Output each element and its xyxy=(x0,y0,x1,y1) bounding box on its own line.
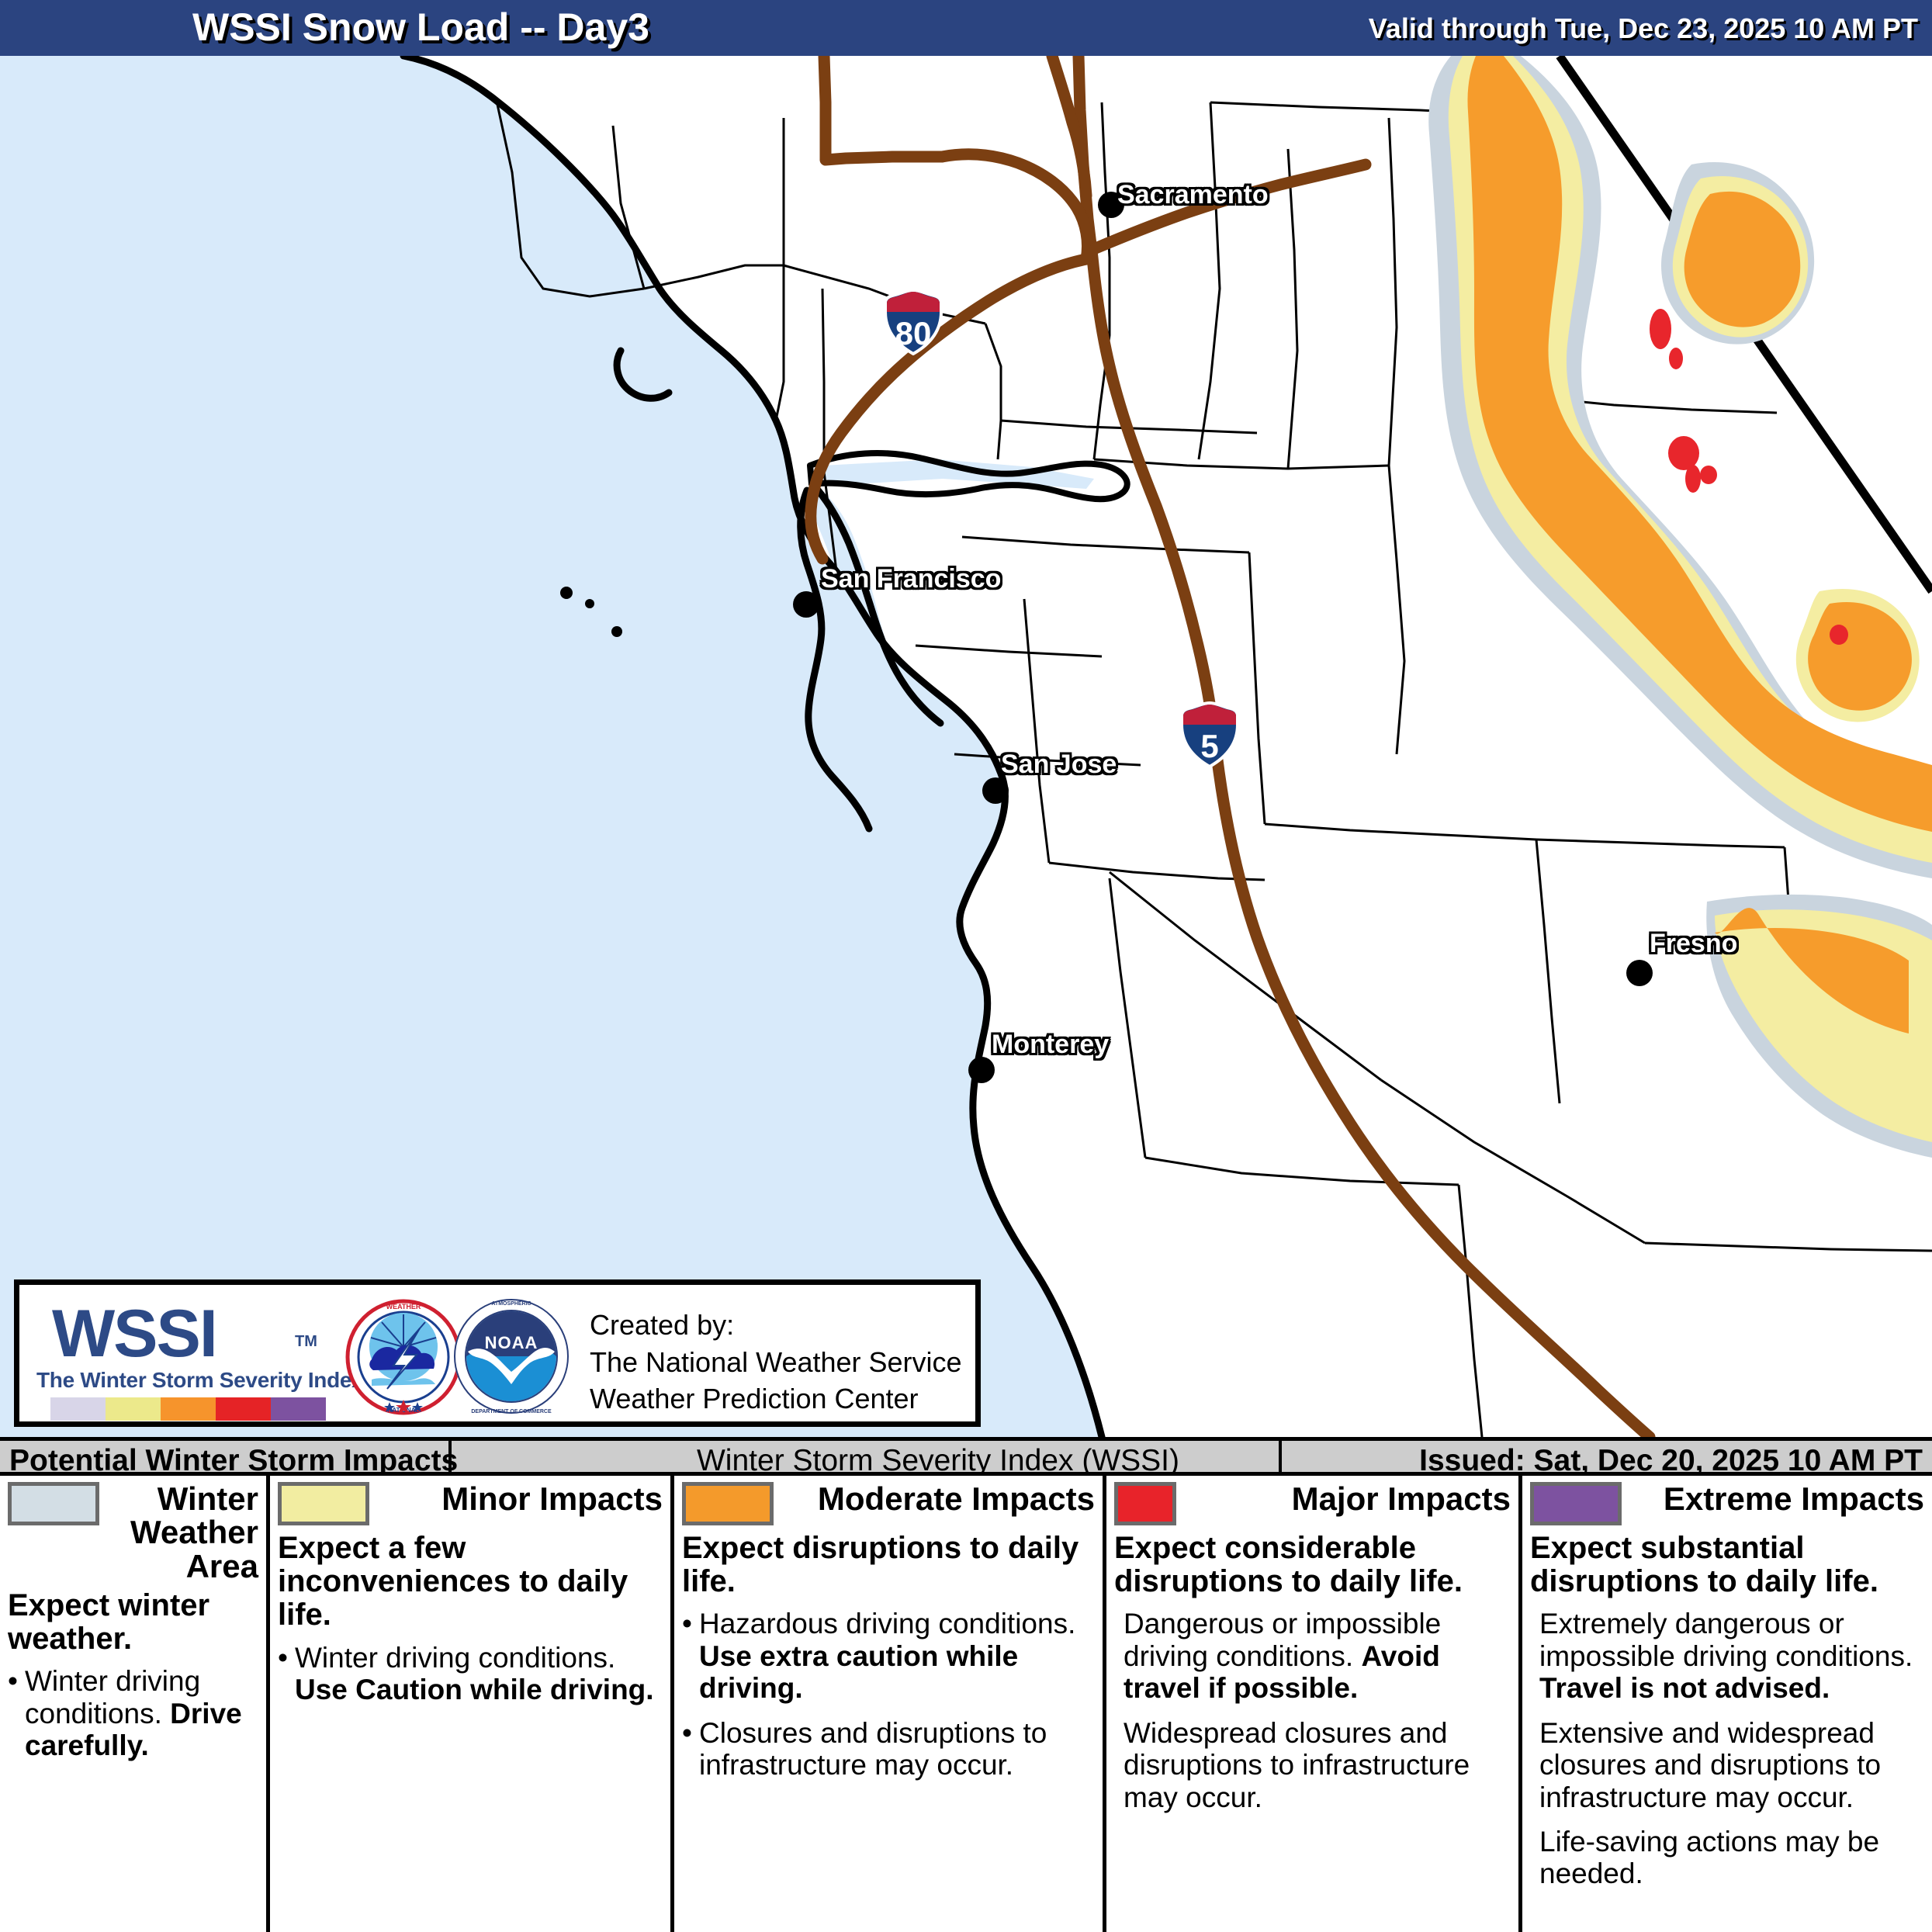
legend-bullet-text: Winter driving conditions. Drive careful… xyxy=(25,1665,258,1761)
page-header: WSSI Snow Load -- Day3 Valid through Tue… xyxy=(0,0,1932,56)
legend-title-extreme-impacts: Extreme Impacts xyxy=(1629,1482,1924,1515)
noaa-seal: NOAA ATMOSPHERIC DEPARTMENT OF COMMERCE xyxy=(452,1297,570,1415)
city-label-san-jose: San Jose xyxy=(1001,750,1117,780)
valid-through-text: Valid through Tue, Dec 23, 2025 10 AM PT xyxy=(1369,12,1918,45)
legend-column-minor-impacts[interactable]: Minor Impacts Expect a few inconvenience… xyxy=(270,1476,674,1932)
legend-bullet-text: Extensive and widespread closures and di… xyxy=(1539,1717,1924,1813)
svg-text:WEATHER: WEATHER xyxy=(386,1303,421,1311)
wssi-wordmark: WSSI xyxy=(52,1296,216,1373)
map-canvas[interactable]: Sacramento San Francisco San Jose Monter… xyxy=(0,56,1932,1437)
legend-bullet-item: • Closures and disruptions to infrastruc… xyxy=(682,1717,1095,1781)
legend-bullet-text: Winter driving conditions. Use Caution w… xyxy=(295,1642,663,1706)
status-bar: Potential Winter Storm Impacts Winter St… xyxy=(0,1437,1932,1476)
created-by-org: The National Weather Service xyxy=(590,1344,962,1381)
city-dot-fresno xyxy=(1626,960,1653,986)
wssi-trademark: TM xyxy=(295,1333,317,1351)
city-label-san-francisco: San Francisco xyxy=(821,564,1001,594)
bullet-bold: Use extra caution while driving. xyxy=(699,1640,1018,1704)
svg-text:NOAA: NOAA xyxy=(485,1333,538,1352)
legend-bullet-text: Closures and disruptions to infrastructu… xyxy=(699,1717,1095,1781)
farallon-island xyxy=(560,587,573,599)
city-label-sacramento: Sacramento xyxy=(1117,180,1269,210)
legend-swatch-minor-impacts xyxy=(278,1482,369,1525)
status-bar-left-title: Potential Winter Storm Impacts xyxy=(9,1444,458,1478)
legend-title-minor-impacts: Minor Impacts xyxy=(377,1482,663,1515)
legend-bullet-item: • Winter driving conditions. Use Caution… xyxy=(278,1642,663,1706)
city-dot-san-francisco xyxy=(793,591,819,618)
interstate-shield-80: 80 xyxy=(883,289,943,355)
legend-bullet-item: • Winter driving conditions. Drive caref… xyxy=(8,1665,258,1761)
legend-bullet-item: • Dangerous or impossible driving condit… xyxy=(1114,1608,1511,1704)
status-bar-divider xyxy=(1279,1441,1282,1472)
legend-bullet-text: Life-saving actions may be needed. xyxy=(1539,1826,1924,1890)
legend-title-moderate-impacts: Moderate Impacts xyxy=(781,1482,1095,1515)
interstate-shield-5: 5 xyxy=(1179,701,1240,768)
legend-column-moderate-impacts[interactable]: Moderate Impacts Expect disruptions to d… xyxy=(674,1476,1106,1932)
national-weather-service-seal: WEATHER NATIONAL xyxy=(345,1299,462,1415)
status-bar-divider xyxy=(448,1441,452,1472)
legend-summary-moderate-impacts: Expect disruptions to daily life. xyxy=(682,1532,1095,1598)
wssi-color-bar xyxy=(50,1397,326,1421)
bullet-dot-icon: • xyxy=(8,1665,25,1761)
bullet-pre: Winter driving conditions. xyxy=(295,1642,615,1674)
legend-title-major-impacts: Major Impacts xyxy=(1184,1482,1511,1515)
legend-bullet-text: Widespread closures and disruptions to i… xyxy=(1124,1717,1511,1813)
legend-bullet-item: • Extensive and widespread closures and … xyxy=(1530,1717,1924,1813)
city-dot-san-jose xyxy=(982,777,1009,804)
wssi-tagline: The Winter Storm Severity Index xyxy=(36,1368,363,1393)
legend-bullet-item: • Widespread closures and disruptions to… xyxy=(1114,1717,1511,1813)
legend-bullets-extreme-impacts: • Extremely dangerous or impossible driv… xyxy=(1530,1608,1924,1890)
legend-bullets-moderate-impacts: • Hazardous driving conditions. Use extr… xyxy=(682,1608,1095,1781)
page-title: WSSI Snow Load -- Day3 xyxy=(192,5,649,50)
bullet-dot-icon: • xyxy=(682,1717,699,1781)
legend-swatch-winter-weather-area xyxy=(8,1482,99,1525)
bullet-dot-icon: • xyxy=(278,1642,295,1706)
interstate-shield-80-number: 80 xyxy=(883,315,943,352)
created-by-label: Created by: xyxy=(590,1307,962,1344)
legend-column-major-impacts[interactable]: Major Impacts Expect considerable disrup… xyxy=(1106,1476,1522,1932)
legend-column-extreme-impacts[interactable]: Extreme Impacts Expect substantial disru… xyxy=(1522,1476,1932,1932)
legend-bullets-minor-impacts: • Winter driving conditions. Use Caution… xyxy=(278,1642,663,1706)
legend-bullets-major-impacts: • Dangerous or impossible driving condit… xyxy=(1114,1608,1511,1813)
legend-bullet-item: • Life-saving actions may be needed. xyxy=(1530,1826,1924,1890)
legend-bullet-text: Hazardous driving conditions. Use extra … xyxy=(699,1608,1095,1704)
created-by-center: Weather Prediction Center xyxy=(590,1380,962,1418)
wssi-map-page: WSSI Snow Load -- Day3 Valid through Tue… xyxy=(0,0,1932,1932)
bullet-dot-icon: • xyxy=(682,1608,699,1704)
legend-summary-extreme-impacts: Expect substantial disruptions to daily … xyxy=(1530,1532,1924,1598)
legend-swatch-extreme-impacts xyxy=(1530,1482,1622,1525)
legend-swatch-major-impacts xyxy=(1114,1482,1176,1525)
interstate-shield-5-number: 5 xyxy=(1179,728,1240,765)
legend-summary-winter-weather-area: Expect winter weather. xyxy=(8,1589,258,1656)
map-graphic xyxy=(0,56,1932,1437)
bullet-pre: Extremely dangerous or impossible drivin… xyxy=(1539,1608,1913,1671)
bullet-bold: Use Caution while driving. xyxy=(295,1674,654,1705)
legend-title-winter-weather-area: Winter Weather Area xyxy=(107,1482,258,1583)
city-label-fresno: Fresno xyxy=(1650,929,1737,959)
legend-summary-minor-impacts: Expect a few inconveniences to daily lif… xyxy=(278,1532,663,1633)
bullet-bold: Travel is not advised. xyxy=(1539,1672,1830,1704)
legend-bullet-text: Extremely dangerous or impossible drivin… xyxy=(1539,1608,1924,1704)
legend-swatch-moderate-impacts xyxy=(682,1482,774,1525)
status-bar-issued-text: Issued: Sat, Dec 20, 2025 10 AM PT xyxy=(1419,1444,1923,1478)
city-dot-monterey xyxy=(968,1057,995,1083)
legend-column-winter-weather-area[interactable]: Winter Weather Area Expect winter weathe… xyxy=(0,1476,270,1932)
legend-bullets-winter-weather-area: • Winter driving conditions. Drive caref… xyxy=(8,1665,258,1761)
legend-bullet-item: • Extremely dangerous or impossible driv… xyxy=(1530,1608,1924,1704)
legend-bullet-item: • Hazardous driving conditions. Use extr… xyxy=(682,1608,1095,1704)
city-label-monterey: Monterey xyxy=(992,1030,1109,1060)
farallon-island xyxy=(585,599,594,608)
status-bar-center-title: Winter Storm Severity Index (WSSI) xyxy=(697,1444,1179,1478)
wssi-logo-box: WSSI TM The Winter Storm Severity Index xyxy=(14,1279,981,1427)
impact-legend: Winter Weather Area Expect winter weathe… xyxy=(0,1476,1932,1932)
created-by-block: Created by: The National Weather Service… xyxy=(590,1307,962,1418)
farallon-island xyxy=(611,626,622,637)
bullet-pre: Hazardous driving conditions. xyxy=(699,1608,1075,1639)
legend-bullet-text: Dangerous or impossible driving conditio… xyxy=(1124,1608,1511,1704)
legend-summary-major-impacts: Expect considerable disruptions to daily… xyxy=(1114,1532,1511,1598)
